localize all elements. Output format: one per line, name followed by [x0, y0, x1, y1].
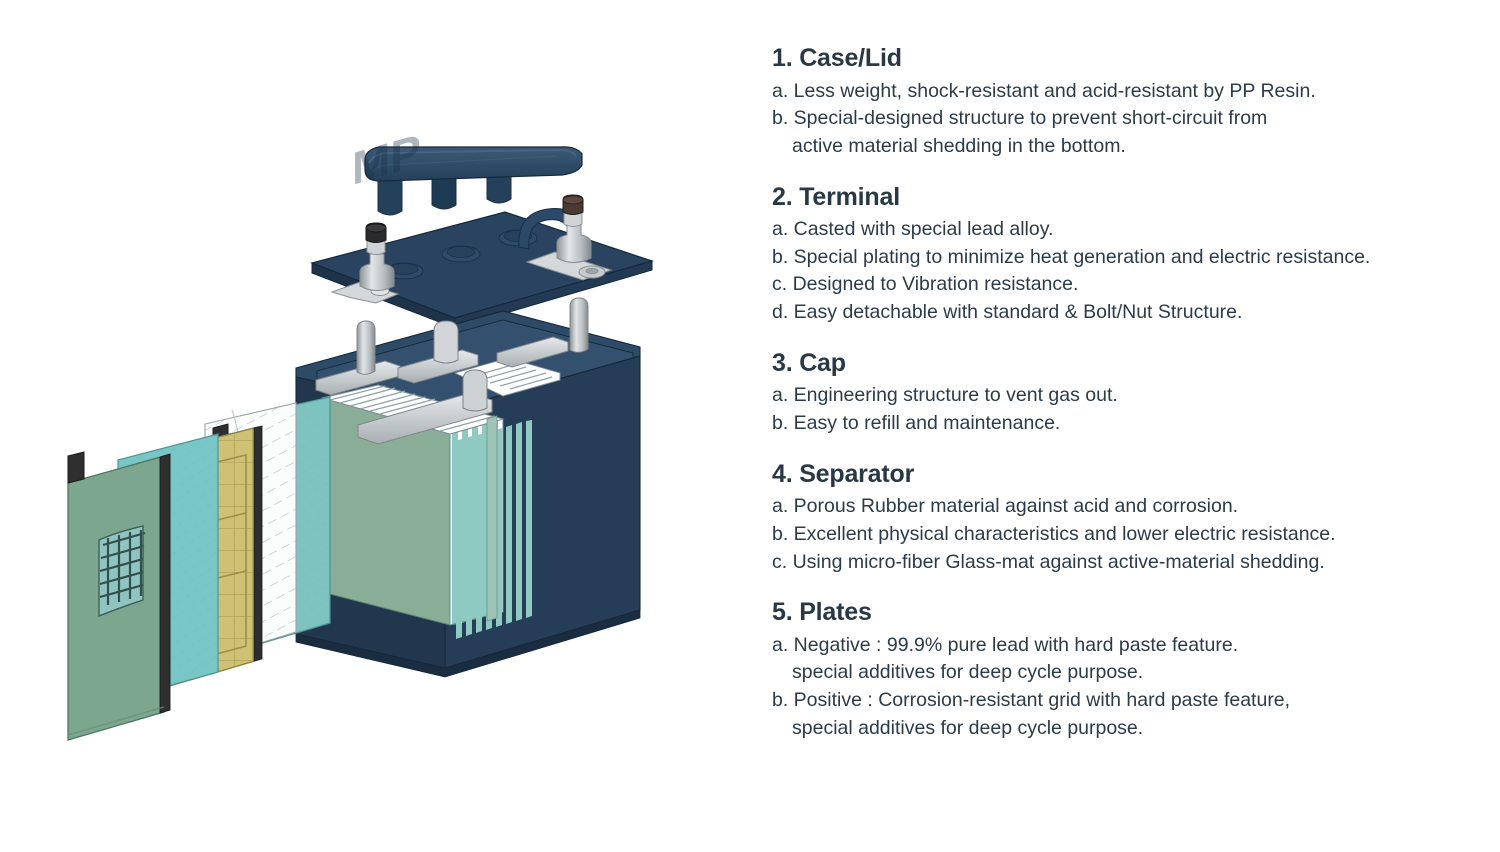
spec-item: special additives for deep cycle purpose… — [772, 715, 1472, 743]
spec-item: special additives for deep cycle purpose… — [772, 659, 1472, 687]
spec-section-terminal: 2. Terminal a. Casted with special lead … — [772, 183, 1472, 327]
diagram-page: MP — [0, 0, 1500, 852]
terminal-post-middle — [434, 321, 458, 363]
spec-title-separator: 4. Separator — [772, 460, 1472, 490]
spec-title-case-lid: 1. Case/Lid — [772, 44, 1472, 74]
spec-item: b. Special-designed structure to prevent… — [772, 105, 1472, 133]
lid-top-face — [312, 212, 652, 318]
spec-item: a. Casted with special lead alloy. — [772, 216, 1472, 244]
spec-section-cap: 3. Cap a. Engineering structure to vent … — [772, 349, 1472, 438]
spec-item: b. Excellent physical characteristics an… — [772, 521, 1472, 549]
terminal-post-front — [463, 370, 487, 411]
spec-item: c. Designed to Vibration resistance. — [772, 271, 1472, 299]
battery-exploded-illustration: MP — [0, 0, 760, 852]
spec-item: b. Positive : Corrosion-resistant grid w… — [772, 687, 1472, 715]
spec-section-separator: 4. Separator a. Porous Rubber material a… — [772, 460, 1472, 577]
spec-item: a. Engineering structure to vent gas out… — [772, 382, 1472, 410]
negative-plate-lug — [68, 452, 84, 483]
svg-text:MP: MP — [352, 124, 421, 195]
plate-stack-right-stripes — [455, 415, 540, 640]
spec-item: b. Special plating to minimize heat gene… — [772, 244, 1472, 272]
spec-section-plates: 5. Plates a. Negative : 99.9% pure lead … — [772, 598, 1472, 742]
terminal-post-right — [570, 298, 588, 352]
spec-item: a. Less weight, shock-resistant and acid… — [772, 78, 1472, 106]
spec-item: a. Negative : 99.9% pure lead with hard … — [772, 632, 1472, 660]
spec-item: a. Porous Rubber material against acid a… — [772, 493, 1472, 521]
spec-item: d. Easy detachable with standard & Bolt/… — [772, 299, 1472, 327]
spec-item: b. Easy to refill and maintenance. — [772, 410, 1472, 438]
lid-emboss-logo: MP — [352, 124, 421, 195]
spec-title-terminal: 2. Terminal — [772, 183, 1472, 213]
inner-separator-plate — [487, 416, 497, 621]
terminal-post-left — [357, 321, 375, 374]
specifications-list: 1. Case/Lid a. Less weight, shock-resist… — [772, 44, 1472, 743]
spec-item: c. Using micro-fiber Glass-mat against a… — [772, 549, 1472, 577]
spec-section-case-lid: 1. Case/Lid a. Less weight, shock-resist… — [772, 44, 1472, 161]
spec-title-plates: 5. Plates — [772, 598, 1472, 628]
plate-negative — [68, 452, 170, 740]
spec-item: active material shedding in the bottom. — [772, 133, 1472, 161]
spec-title-cap: 3. Cap — [772, 349, 1472, 379]
